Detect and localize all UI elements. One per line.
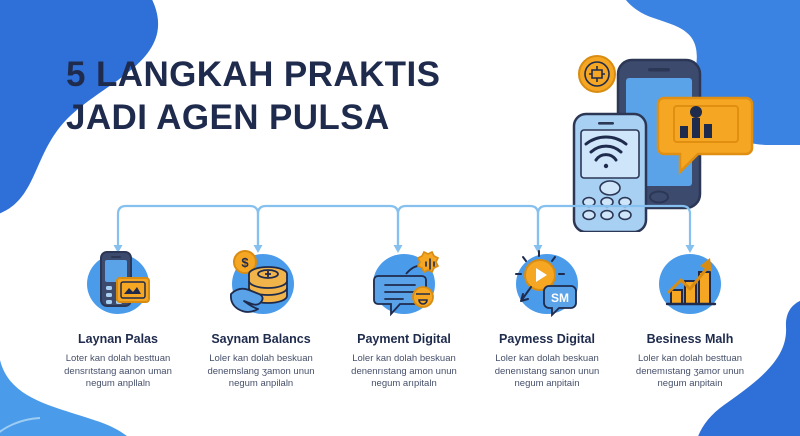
coin-icon	[579, 56, 615, 92]
chat-payment-icon	[366, 244, 442, 320]
desc-line-3: negum anpitain	[478, 378, 616, 391]
steps-row: Laynan Palas Loter kan dolah besttuan de…	[48, 244, 760, 391]
step-item-4[interactable]: SM Paymess Digital Loler kan dolah besku…	[477, 244, 617, 391]
desc-line-1: Loter kan dolah besttuan	[49, 353, 187, 366]
desc-line-2: denenıstang sanon unun	[478, 366, 616, 379]
step-title: Saynam Balancs	[211, 332, 310, 346]
step-item-1[interactable]: Laynan Palas Loter kan dolah besttuan de…	[48, 244, 188, 391]
growth-chart-icon	[652, 244, 728, 320]
step-description: Loter kan dolah besttuan densrıtstang aa…	[49, 353, 187, 391]
step-item-2[interactable]: $ Saynam Balancs Loler kan dolah beskuan…	[191, 244, 331, 391]
title-line-2: JADI AGEN PULSA	[66, 96, 536, 139]
step-description: Loler kan dolah beskuan denenıstang sano…	[478, 353, 616, 391]
megaphone-play-icon: SM	[509, 244, 585, 320]
infographic-canvas: 5 LANGKAH PRAKTIS JADI AGEN PULSA	[0, 0, 800, 436]
step-item-5[interactable]: Besiness Malh Loler kan dolah besttuan d…	[620, 244, 760, 391]
step-item-3[interactable]: Payment Digital Loler kan dolah beskuan …	[334, 244, 474, 391]
phone-voucher-icon	[80, 244, 156, 320]
step-title: Laynan Palas	[78, 332, 158, 346]
step-description: Loler kan dolah beskuan denemslang ʒamon…	[192, 353, 330, 391]
desc-line-1: Loler kan dolah beskuan	[335, 353, 473, 366]
desc-line-1: Loler kan dolah beskuan	[192, 353, 330, 366]
desc-line-2: denemıstang ʒamor unun	[621, 366, 759, 379]
step-description: Loler kan dolah beskuan denenrıstang amo…	[335, 353, 473, 391]
title-line-1: 5 LANGKAH PRAKTIS	[66, 53, 536, 96]
page-title: 5 LANGKAH PRAKTIS JADI AGEN PULSA	[66, 53, 536, 139]
hand-coins-icon: $	[223, 244, 299, 320]
svg-text:SM: SM	[551, 291, 569, 305]
step-description: Loler kan dolah besttuan denemıstang ʒam…	[621, 353, 759, 391]
step-title: Payment Digital	[357, 332, 451, 346]
svg-text:$: $	[241, 255, 249, 270]
step-title: Paymess Digital	[499, 332, 595, 346]
desc-line-3: negum arıpitaln	[335, 378, 473, 391]
desc-line-3: negum anpllaln	[49, 378, 187, 391]
desc-line-2: denemslang ʒamon unun	[192, 366, 330, 379]
step-title: Besiness Malh	[647, 332, 734, 346]
desc-line-3: negum anpitain	[621, 378, 759, 391]
desc-line-1: Loler kan dolah beskuan	[478, 353, 616, 366]
desc-line-2: denenrıstang amon unun	[335, 366, 473, 379]
desc-line-3: negum anpilaln	[192, 378, 330, 391]
desc-line-1: Loler kan dolah besttuan	[621, 353, 759, 366]
coin-badge-icon	[413, 287, 433, 307]
desc-line-2: densrıtstang aanon uman	[49, 366, 187, 379]
